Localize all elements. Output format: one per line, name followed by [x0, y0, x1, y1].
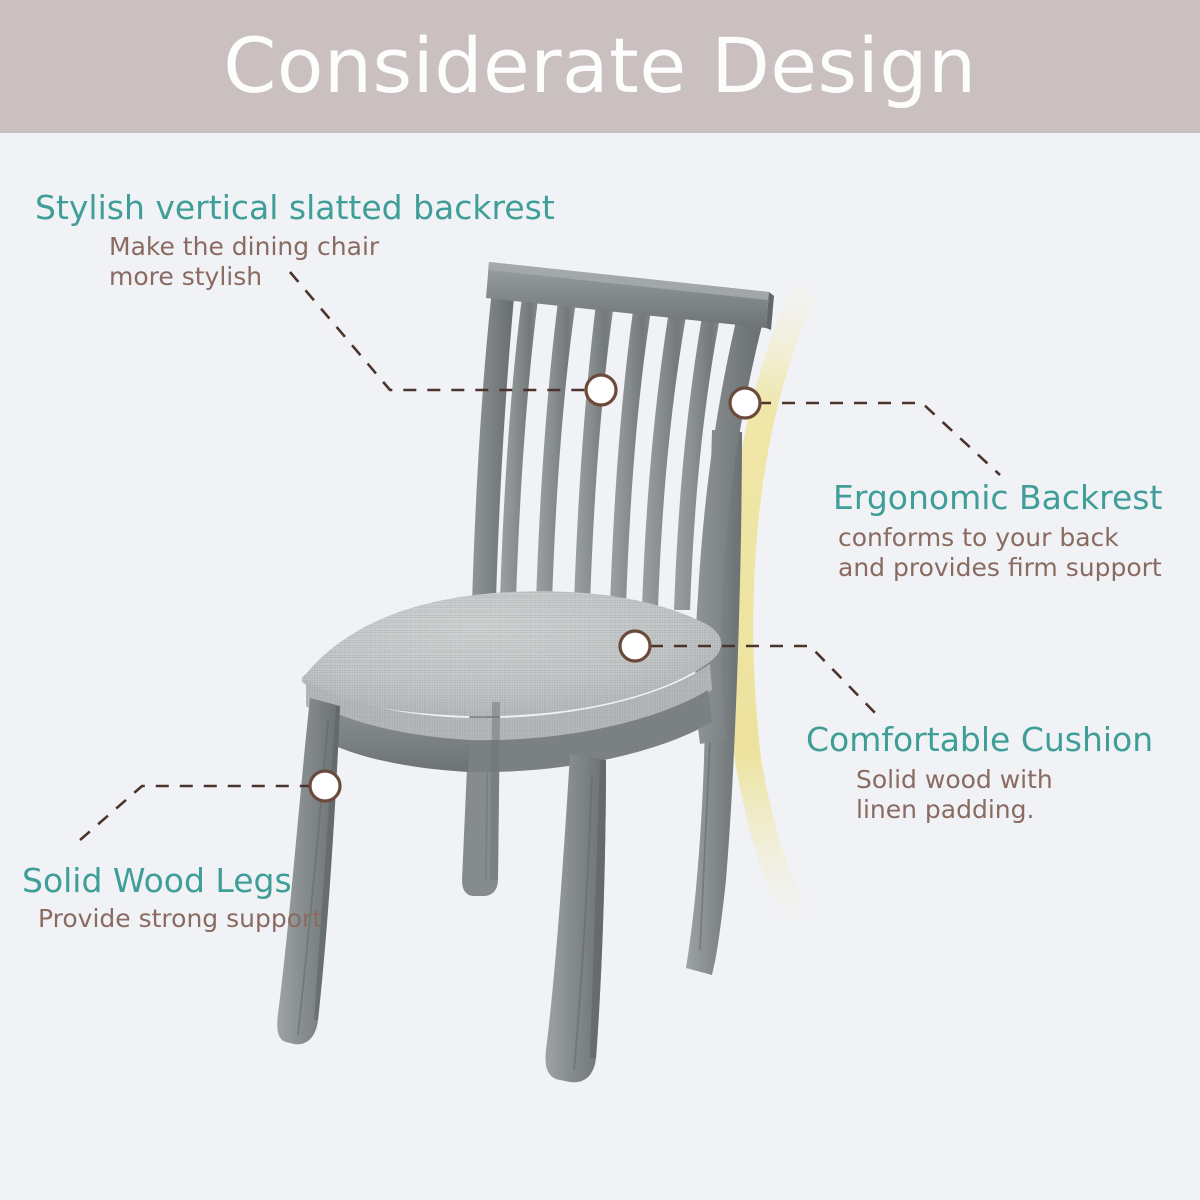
back-slat-3 [574, 288, 616, 604]
legs-marker[interactable] [310, 771, 340, 801]
infographic-canvas: Considerate Design [0, 0, 1200, 1200]
ergonomic-marker[interactable] [730, 388, 760, 418]
callout-legs-subtext-line-1: Provide strong support [38, 904, 322, 934]
callout-ergonomic-subtext: conforms to your back and provides firm … [838, 523, 1162, 583]
leader-legs [80, 786, 312, 840]
callout-cushion-subtext-line-1: Solid wood with [856, 765, 1153, 795]
callout-legs-heading: Solid Wood Legs [22, 861, 322, 901]
callout-ergonomic: Ergonomic Backrest conforms to your back… [833, 478, 1162, 583]
callout-backrest-heading: Stylish vertical slatted backrest [35, 188, 555, 228]
cushion-marker[interactable] [620, 631, 650, 661]
callout-ergonomic-heading: Ergonomic Backrest [833, 478, 1162, 518]
callout-ergonomic-subtext-line-1: conforms to your back [838, 523, 1162, 553]
callout-cushion-subtext-line-2: linen padding. [856, 795, 1153, 825]
callout-backrest: Stylish vertical slatted backrest Make t… [35, 188, 555, 292]
callout-backrest-subtext-line-1: Make the dining chair [109, 232, 555, 262]
product-illustration [0, 0, 1200, 1200]
backrest-marker[interactable] [586, 375, 616, 405]
callout-cushion-subtext: Solid wood with linen padding. [856, 765, 1153, 825]
callout-legs: Solid Wood Legs Provide strong support [22, 861, 322, 934]
callout-backrest-subtext-line-2: more stylish [109, 262, 555, 292]
dining-chair [277, 262, 774, 1082]
back-slat-2 [536, 286, 578, 602]
callout-cushion-heading: Comfortable Cushion [806, 720, 1153, 760]
callout-legs-subtext: Provide strong support [38, 904, 322, 934]
callout-cushion: Comfortable Cushion Solid wood with line… [806, 720, 1153, 825]
leader-ergonomic [758, 403, 1000, 475]
callout-backrest-subtext: Make the dining chair more stylish [109, 232, 555, 292]
callout-ergonomic-subtext-line-2: and provides firm support [838, 553, 1162, 583]
